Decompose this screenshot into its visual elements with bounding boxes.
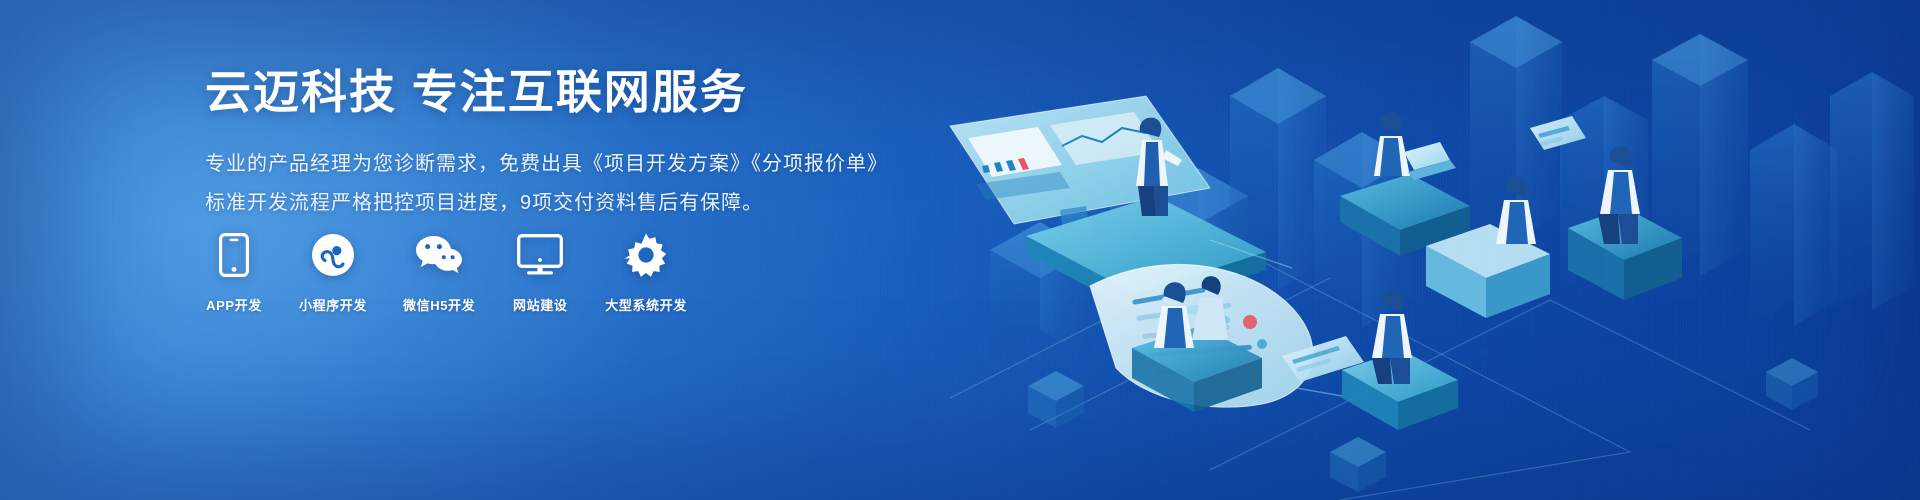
hero-copy: 云迈科技 专注互联网服务 专业的产品经理为您诊断需求，免费出具《项目开发方案》《… bbox=[205, 64, 965, 222]
wechat-icon bbox=[414, 232, 464, 278]
mini-program-icon bbox=[311, 232, 355, 278]
gear-icon bbox=[624, 232, 668, 278]
service-item-wechat-h5[interactable]: 微信H5开发 bbox=[403, 232, 475, 314]
hero-illustration bbox=[910, 0, 1920, 500]
service-item-large-system[interactable]: 大型系统开发 bbox=[605, 232, 687, 314]
subtitle-line-2: 标准开发流程严格把控项目进度，9项交付资料售后有保障。 bbox=[205, 185, 965, 222]
page-title: 云迈科技 专注互联网服务 bbox=[205, 64, 965, 122]
subtitle-line-1: 专业的产品经理为您诊断需求，免费出具《项目开发方案》《分项报价单》 bbox=[205, 146, 965, 183]
service-item-mini-program[interactable]: 小程序开发 bbox=[299, 232, 367, 314]
service-label: APP开发 bbox=[206, 295, 262, 314]
mobile-phone-icon bbox=[219, 232, 249, 278]
service-label: 小程序开发 bbox=[299, 295, 367, 314]
hero-banner: 云迈科技 专注互联网服务 专业的产品经理为您诊断需求，免费出具《项目开发方案》《… bbox=[0, 0, 1920, 500]
service-label: 微信H5开发 bbox=[403, 295, 475, 314]
service-list: APP开发 小程序开发 bbox=[205, 232, 687, 314]
service-item-app[interactable]: APP开发 bbox=[205, 232, 263, 314]
service-label: 网站建设 bbox=[513, 295, 567, 314]
service-item-website[interactable]: 网站建设 bbox=[511, 232, 569, 314]
monitor-icon bbox=[517, 232, 563, 278]
service-label: 大型系统开发 bbox=[605, 295, 687, 314]
